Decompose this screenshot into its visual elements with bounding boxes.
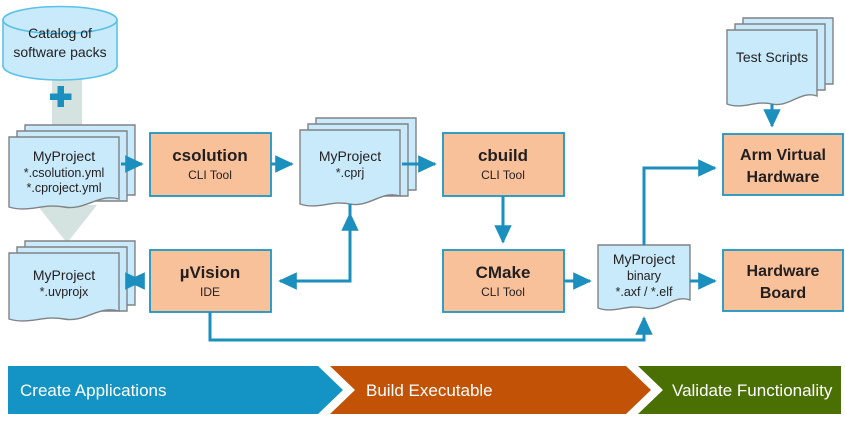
phase-label-validate: Validate Functionality bbox=[672, 381, 833, 400]
tool-uvision-title: µVision bbox=[180, 263, 241, 282]
tool-cbuild-sub: CLI Tool bbox=[481, 168, 525, 182]
target-avh-line1: Arm Virtual bbox=[740, 147, 826, 164]
diagram-canvas: Catalog of software packs MyProject *.cs… bbox=[0, 0, 845, 436]
document-project-binary-sub1: binary bbox=[627, 269, 662, 283]
workflow-diagram: Catalog of software packs MyProject *.cs… bbox=[0, 0, 845, 436]
document-project-uvprojx-title: MyProject bbox=[33, 267, 95, 283]
document-project-uvprojx-sub1: *.uvprojx bbox=[40, 285, 89, 299]
target-avh-line2: Hardware bbox=[747, 169, 820, 186]
target-board-line1: Hardware bbox=[747, 263, 820, 280]
catalog-label-line1: Catalog of bbox=[28, 25, 92, 41]
document-test-scripts-title: Test Scripts bbox=[736, 49, 808, 65]
phase-label-create: Create Applications bbox=[20, 381, 166, 400]
arrow-cprj-to-uvision bbox=[280, 204, 350, 281]
tool-csolution-title: csolution bbox=[172, 146, 248, 165]
document-project-binary-title: MyProject bbox=[613, 251, 675, 267]
tool-csolution-sub: CLI Tool bbox=[188, 168, 232, 182]
tool-cmake-sub: CLI Tool bbox=[481, 285, 525, 299]
document-project-cprj-title: MyProject bbox=[319, 148, 381, 164]
arrow-binary-to-avh bbox=[644, 168, 715, 245]
phase-label-build: Build Executable bbox=[366, 381, 493, 400]
document-project-yml-sub1: *.csolution.yml bbox=[24, 166, 105, 180]
tool-cbuild-title: cbuild bbox=[478, 146, 528, 165]
document-project-yml-title: MyProject bbox=[33, 148, 95, 164]
tool-uvision-sub: IDE bbox=[200, 285, 220, 299]
document-project-cprj-sub1: *.cprj bbox=[336, 166, 364, 180]
document-project-yml-sub2: *.cproject.yml bbox=[26, 181, 101, 195]
catalog-label-line2: software packs bbox=[13, 44, 106, 60]
target-board-line2: Board bbox=[760, 285, 806, 302]
arrow-uvision-to-binary bbox=[210, 312, 644, 340]
document-project-binary-sub2: *.axf / *.elf bbox=[616, 285, 673, 299]
tool-cmake-title: CMake bbox=[476, 263, 531, 282]
